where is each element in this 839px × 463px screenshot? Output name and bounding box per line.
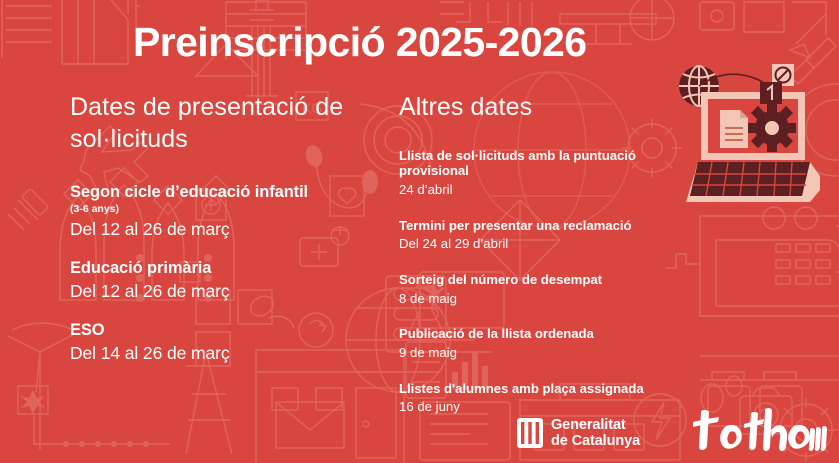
entry-title: Sorteig del número de desempat bbox=[399, 272, 689, 288]
badge-1-icon bbox=[760, 82, 782, 104]
entry-date: 9 de maig bbox=[399, 345, 689, 361]
entry-title: Llista de sol·licituds amb la puntuació … bbox=[399, 148, 689, 179]
list-item: Termini per presentar una reclamació Del… bbox=[399, 218, 689, 252]
gear-icon bbox=[748, 104, 796, 152]
entry-title: Educació primària bbox=[70, 259, 390, 278]
laptop-illustration bbox=[668, 58, 833, 208]
entry-date: Del 12 al 26 de març bbox=[70, 219, 390, 240]
entry-subtitle: (3-6 anys) bbox=[70, 203, 390, 215]
tothom-wordmark bbox=[693, 408, 827, 451]
generalitat-line-1: Generalitat bbox=[551, 417, 640, 433]
list-item: ESO Del 14 al 26 de març bbox=[70, 321, 390, 364]
list-item: Sorteig del número de desempat 8 de maig bbox=[399, 272, 689, 306]
entry-title: Llistes d'alumnes amb plaça assignada bbox=[399, 381, 689, 397]
generalitat-line-2: de Catalunya bbox=[551, 433, 640, 449]
entry-title: Publicació de la llista ordenada bbox=[399, 326, 689, 342]
catalonia-senyera-icon bbox=[517, 418, 543, 448]
list-item: Llista de sol·licituds amb la puntuació … bbox=[399, 148, 689, 198]
generalitat-de-catalunya-logo: Generalitat de Catalunya bbox=[517, 417, 640, 449]
right-column-list: Llista de sol·licituds amb la puntuació … bbox=[399, 148, 689, 416]
entry-title: Termini per presentar una reclamació bbox=[399, 218, 689, 234]
right-column-heading: Altres dates bbox=[399, 92, 689, 124]
entry-title: ESO bbox=[70, 321, 390, 340]
left-column-list: Segon cicle d’educació infantil (3-6 any… bbox=[70, 183, 390, 364]
tothom-logo bbox=[688, 408, 828, 454]
entry-date: 8 de maig bbox=[399, 291, 689, 307]
entry-date: 16 de juny bbox=[399, 399, 689, 415]
page-title: Preinscripció 2025-2026 bbox=[133, 22, 586, 63]
list-item: Llistes d'alumnes amb plaça assignada 16… bbox=[399, 381, 689, 415]
entry-date: Del 14 al 26 de març bbox=[70, 343, 390, 364]
entry-date: Del 24 al 29 d’abril bbox=[399, 236, 689, 252]
generalitat-logo-text: Generalitat de Catalunya bbox=[551, 417, 640, 449]
entry-date: 24 d’abril bbox=[399, 182, 689, 198]
list-item: Educació primària Del 12 al 26 de març bbox=[70, 259, 390, 302]
list-item: Publicació de la llista ordenada 9 de ma… bbox=[399, 326, 689, 360]
entry-date: Del 12 al 26 de març bbox=[70, 281, 390, 302]
left-column-heading: Dates de presentació de sol·licituds bbox=[70, 92, 390, 155]
document-icon bbox=[720, 110, 748, 148]
list-item: Segon cicle d’educació infantil (3-6 any… bbox=[70, 183, 390, 240]
left-column: Dates de presentació de sol·licituds Seg… bbox=[70, 92, 390, 364]
entry-title: Segon cicle d’educació infantil bbox=[70, 183, 390, 202]
right-column: Altres dates Llista de sol·licituds amb … bbox=[399, 92, 689, 415]
poster-canvas: KG bbox=[0, 0, 839, 463]
